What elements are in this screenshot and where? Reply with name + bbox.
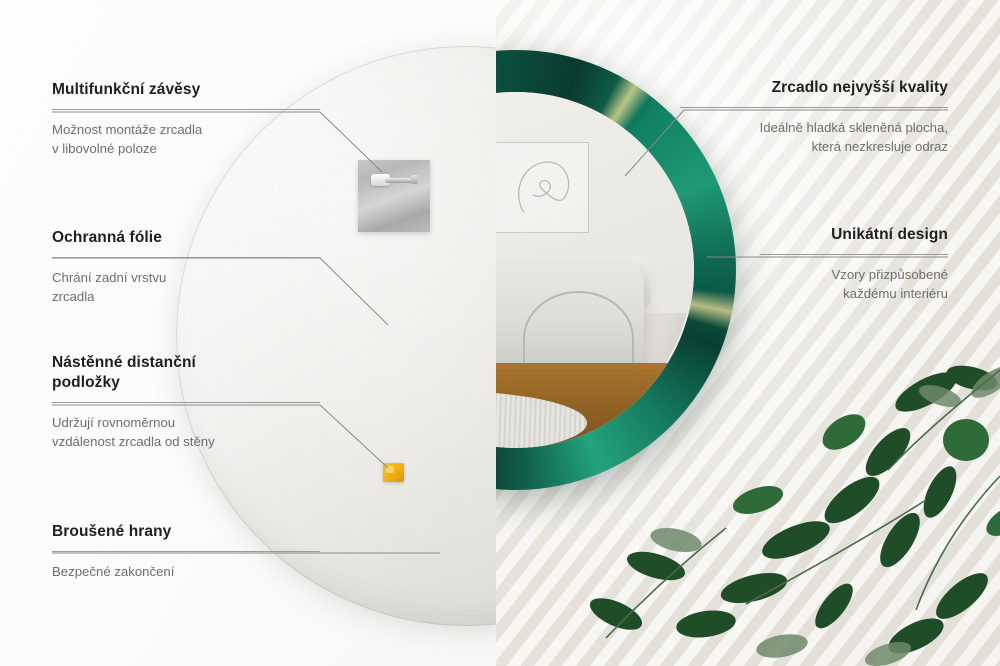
feature-description: Chrání zadní vrstvuzrcadla <box>52 268 320 306</box>
feature-title: Zrcadlo nejvyšší kvality <box>680 78 948 98</box>
hanger-bracket-icon <box>371 174 417 187</box>
feature-description: Udržují rovnoměrnouvzdálenost zrcadla od… <box>52 413 320 451</box>
feature-title: Ochranná fólie <box>52 228 320 248</box>
feature-rule <box>52 257 320 258</box>
feature-description: Vzory přizpůsobenékaždému interiéru <box>760 265 948 303</box>
feature-title: Unikátní design <box>760 225 948 245</box>
feature-rule <box>52 402 320 403</box>
hanger-tip <box>411 175 418 184</box>
infographic-canvas: Multifunkční závěsy Možnost montáže zrca… <box>0 0 1000 666</box>
feature-description: Možnost montáže zrcadlav libovolné poloz… <box>52 120 320 158</box>
feature-title: Nástěnné distančnípodložky <box>52 353 320 393</box>
amber-spacer-washer <box>383 463 404 482</box>
feature-rule <box>680 107 948 108</box>
feature-description: Ideálně hladká skleněná plocha,která nez… <box>680 118 948 156</box>
feature-title: Multifunkční závěsy <box>52 80 320 100</box>
feature-block-nastenne-distancni-podlozky: Nástěnné distančnípodložky Udržují rovno… <box>52 353 320 451</box>
feature-block-multifunkcni-zavesy: Multifunkční závěsy Možnost montáže zrca… <box>52 80 320 158</box>
feature-block-brousene-hrany: Broušené hrany Bezpečné zakončení <box>52 522 320 581</box>
feature-title: Broušené hrany <box>52 522 320 542</box>
feature-rule <box>52 551 320 552</box>
feature-rule <box>52 109 320 110</box>
feature-rule <box>760 254 948 255</box>
feature-block-ochranna-folie: Ochranná fólie Chrání zadní vrstvuzrcadl… <box>52 228 320 306</box>
feature-block-unikatni-design: Unikátní design Vzory přizpůsobenékaždém… <box>760 225 948 303</box>
hanger-mounting-plate <box>358 160 430 232</box>
feature-block-zrcadlo-nejvyssi-kvality: Zrcadlo nejvyšší kvality Ideálně hladká … <box>680 78 948 156</box>
feature-description: Bezpečné zakončení <box>52 562 320 581</box>
